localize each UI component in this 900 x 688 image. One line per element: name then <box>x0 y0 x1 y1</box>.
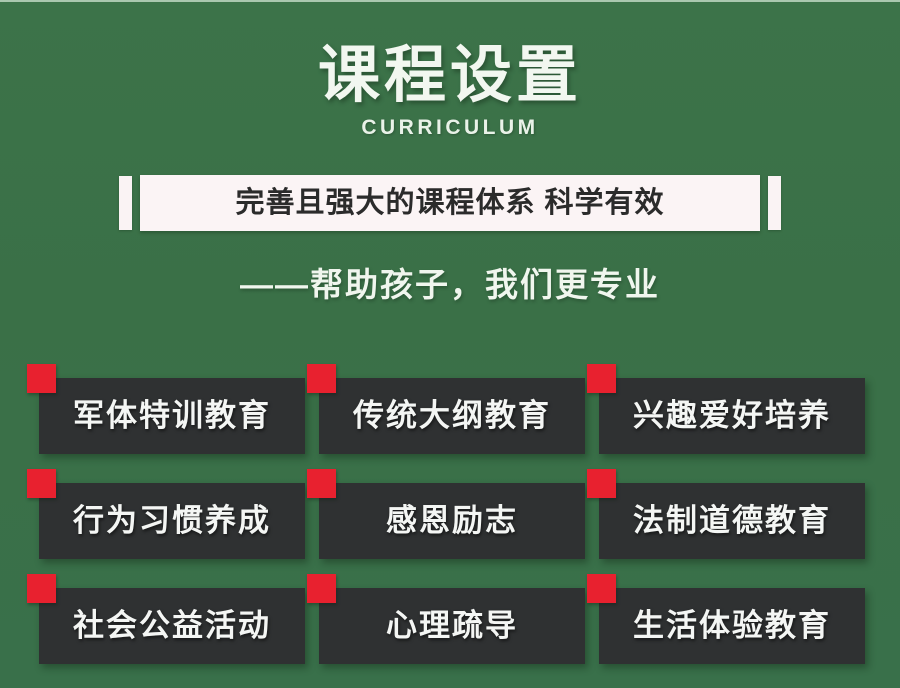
curriculum-card[interactable]: 社会公益活动 <box>39 588 305 664</box>
red-square-icon <box>27 364 56 393</box>
card-slot: 感恩励志 <box>319 483 585 559</box>
banner-box: 完善且强大的课程体系 科学有效 <box>140 175 760 231</box>
red-square-icon <box>587 469 616 498</box>
curriculum-card-label: 生活体验教育 <box>633 609 831 643</box>
card-slot: 社会公益活动 <box>39 588 305 664</box>
curriculum-card-label: 心理疏导 <box>386 609 518 643</box>
curriculum-card[interactable]: 生活体验教育 <box>599 588 865 664</box>
curriculum-card-label: 行为习惯养成 <box>73 504 271 538</box>
curriculum-card[interactable]: 心理疏导 <box>319 588 585 664</box>
red-square-icon <box>27 574 56 603</box>
card-slot: 传统大纲教育 <box>319 378 585 454</box>
red-square-icon <box>587 574 616 603</box>
red-square-icon <box>587 364 616 393</box>
card-slot: 心理疏导 <box>319 588 585 664</box>
top-edge-divider <box>0 0 900 2</box>
page-subtitle: CURRICULUM <box>0 116 900 140</box>
curriculum-card-label: 军体特训教育 <box>73 399 271 433</box>
banner-tick-right <box>768 176 781 230</box>
red-square-icon <box>307 574 336 603</box>
curriculum-card[interactable]: 军体特训教育 <box>39 378 305 454</box>
curriculum-card[interactable]: 行为习惯养成 <box>39 483 305 559</box>
banner-tick-left <box>119 176 132 230</box>
card-slot: 军体特训教育 <box>39 378 305 454</box>
headline-banner: 完善且强大的课程体系 科学有效 <box>0 172 900 234</box>
tagline: ——帮助孩子，我们更专业 <box>0 265 900 305</box>
curriculum-card-label: 法制道德教育 <box>633 504 831 538</box>
card-slot: 生活体验教育 <box>599 588 865 664</box>
curriculum-card-label: 感恩励志 <box>386 504 518 538</box>
curriculum-card[interactable]: 法制道德教育 <box>599 483 865 559</box>
banner-text: 完善且强大的课程体系 科学有效 <box>235 187 664 219</box>
card-slot: 行为习惯养成 <box>39 483 305 559</box>
curriculum-card[interactable]: 感恩励志 <box>319 483 585 559</box>
red-square-icon <box>307 469 336 498</box>
curriculum-card[interactable]: 传统大纲教育 <box>319 378 585 454</box>
card-slot: 兴趣爱好培养 <box>599 378 865 454</box>
red-square-icon <box>27 469 56 498</box>
curriculum-card-grid: 军体特训教育 传统大纲教育 兴趣爱好培养 行为习惯养成 感恩励志 <box>39 378 865 664</box>
curriculum-card[interactable]: 兴趣爱好培养 <box>599 378 865 454</box>
red-square-icon <box>307 364 336 393</box>
curriculum-poster: 课程设置 CURRICULUM 完善且强大的课程体系 科学有效 ——帮助孩子，我… <box>0 0 900 688</box>
poster-header: 课程设置 CURRICULUM <box>0 42 900 140</box>
card-slot: 法制道德教育 <box>599 483 865 559</box>
curriculum-card-label: 社会公益活动 <box>73 609 271 643</box>
curriculum-card-label: 兴趣爱好培养 <box>633 399 831 433</box>
curriculum-card-label: 传统大纲教育 <box>353 399 551 433</box>
page-title: 课程设置 <box>0 42 900 110</box>
